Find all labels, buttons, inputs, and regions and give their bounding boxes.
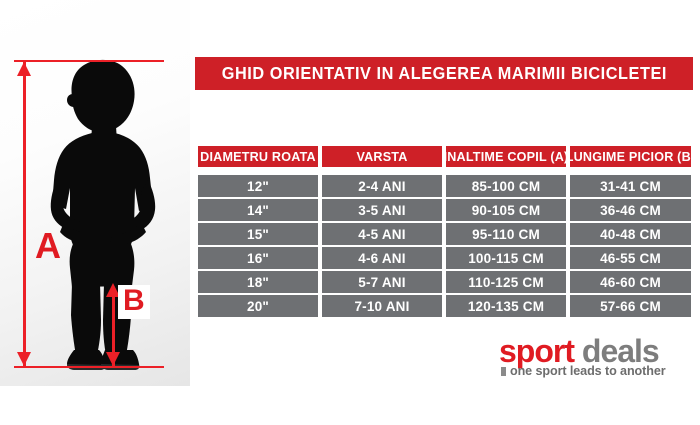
table-row: 16" 4-6 ANI 100-115 CM 46-55 CM: [198, 247, 691, 269]
measure-a-arrow-down: [17, 352, 31, 366]
logo-wordmark: sport deals: [499, 335, 666, 367]
cell-wheel-diameter: 18": [198, 271, 318, 293]
cell-wheel-diameter: 15": [198, 223, 318, 245]
cell-child-height: 90-105 CM: [446, 199, 566, 221]
size-guide-table: DIAMETRU ROATA VARSTA INALTIME COPIL (A)…: [198, 146, 691, 319]
table-header-row: DIAMETRU ROATA VARSTA INALTIME COPIL (A)…: [198, 146, 691, 167]
cell-leg-length: 46-60 CM: [570, 271, 691, 293]
cell-leg-length: 40-48 CM: [570, 223, 691, 245]
cell-leg-length: 46-55 CM: [570, 247, 691, 269]
cell-leg-length: 31-41 CM: [570, 175, 691, 197]
column-header-leg-length: LUNGIME PICIOR (B): [570, 146, 691, 167]
cell-age: 7-10 ANI: [322, 295, 442, 317]
title-banner: GHID ORIENTATIV IN ALEGEREA MARIMII BICI…: [195, 57, 693, 90]
measurement-photo-panel: A B: [0, 0, 190, 386]
cell-age: 3-5 ANI: [322, 199, 442, 221]
child-silhouette-icon: [0, 0, 190, 386]
cell-age: 4-5 ANI: [322, 223, 442, 245]
cell-wheel-diameter: 12": [198, 175, 318, 197]
column-header-child-height: INALTIME COPIL (A): [446, 146, 566, 167]
cell-leg-length: 36-46 CM: [570, 199, 691, 221]
cell-child-height: 110-125 CM: [446, 271, 566, 293]
cell-leg-length: 57-66 CM: [570, 295, 691, 317]
measure-a-arrow-up: [17, 62, 31, 76]
cell-child-height: 95-110 CM: [446, 223, 566, 245]
guide-line-top: [14, 60, 164, 62]
brand-logo: sport deals one sport leads to another: [499, 335, 666, 378]
cell-wheel-diameter: 14": [198, 199, 318, 221]
cell-wheel-diameter: 20": [198, 295, 318, 317]
cell-age: 4-6 ANI: [322, 247, 442, 269]
cell-wheel-diameter: 16": [198, 247, 318, 269]
measure-b-arrow-down: [106, 352, 120, 366]
table-row: 18" 5-7 ANI 110-125 CM 46-60 CM: [198, 271, 691, 293]
measure-b-label: B: [118, 285, 150, 319]
column-header-wheel-diameter: DIAMETRU ROATA: [198, 146, 318, 167]
table-row: 15" 4-5 ANI 95-110 CM 40-48 CM: [198, 223, 691, 245]
page-title: GHID ORIENTATIV IN ALEGEREA MARIMII BICI…: [221, 63, 666, 84]
table-row: 12" 2-4 ANI 85-100 CM 31-41 CM: [198, 175, 691, 197]
cell-age: 5-7 ANI: [322, 271, 442, 293]
cell-child-height: 120-135 CM: [446, 295, 566, 317]
cell-age: 2-4 ANI: [322, 175, 442, 197]
square-bullet-icon: [501, 367, 506, 376]
guide-line-bottom: [14, 366, 164, 368]
measure-a-shaft: [23, 62, 26, 366]
table-row: 20" 7-10 ANI 120-135 CM 57-66 CM: [198, 295, 691, 317]
column-header-age: VARSTA: [322, 146, 442, 167]
logo-tagline: one sport leads to another: [510, 364, 666, 378]
logo-tagline-row: one sport leads to another: [501, 364, 666, 378]
cell-child-height: 100-115 CM: [446, 247, 566, 269]
cell-child-height: 85-100 CM: [446, 175, 566, 197]
measure-a-label: A: [35, 228, 61, 264]
table-row: 14" 3-5 ANI 90-105 CM 36-46 CM: [198, 199, 691, 221]
